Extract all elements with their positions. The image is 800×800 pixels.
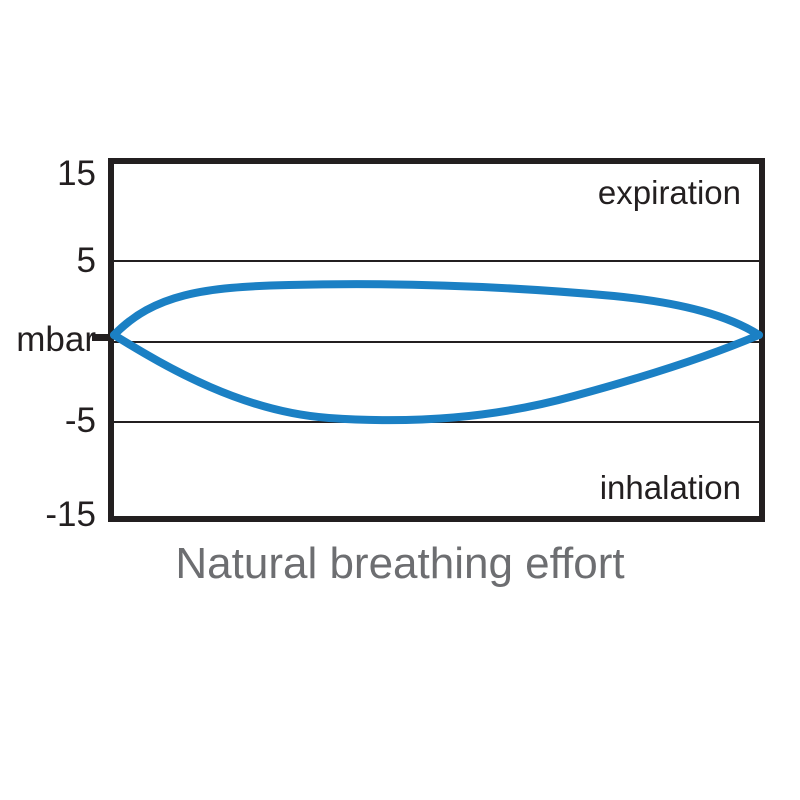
curve-inhalation (114, 335, 759, 420)
y-tick-label-neg15: -15 (45, 497, 96, 532)
y-tick-label-5: 5 (77, 243, 96, 278)
gridline-neg5 (114, 421, 759, 423)
y-tick-label-neg5: -5 (65, 403, 96, 438)
breathing-loop-curve (114, 164, 759, 516)
chart-figure: 15 5 mbar -5 -15 expiration inhalation N… (0, 0, 800, 800)
gridline-5 (114, 260, 759, 262)
plot-area: expiration inhalation (108, 158, 765, 522)
y-axis-labels: 15 5 mbar -5 -15 (0, 0, 96, 800)
gridline-zero (114, 341, 759, 343)
annotation-inhalation: inhalation (600, 471, 741, 504)
y-tick-label-15: 15 (57, 156, 96, 191)
annotation-expiration: expiration (598, 176, 741, 209)
y-tick-label-mbar: mbar (16, 322, 96, 357)
curve-expiration (114, 284, 759, 335)
figure-caption: Natural breathing effort (0, 540, 800, 588)
